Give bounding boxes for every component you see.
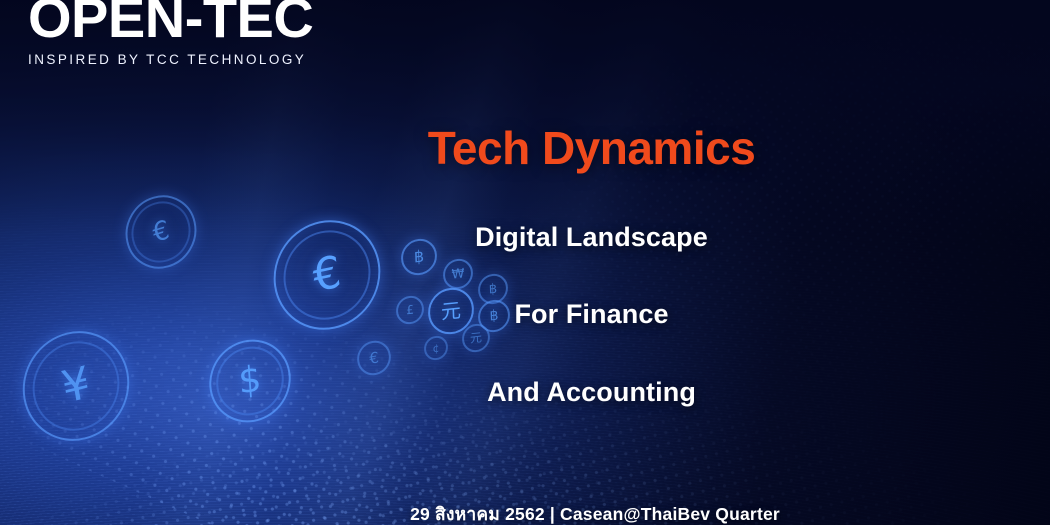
opentec-logo: OPEN-TEC INSPIRED BY TCC TECHNOLOGY (28, 0, 313, 67)
logo-wordmark: OPEN-TEC (28, 0, 313, 46)
coin-currency-glyph: $ (237, 361, 262, 400)
coin-currency-glyph: ฿ (489, 282, 498, 296)
coin-currency-glyph: 元 (470, 331, 482, 344)
logo-tagline: INSPIRED BY TCC TECHNOLOGY (28, 52, 313, 67)
coin-currency-glyph: £ (406, 304, 414, 317)
coin-currency-glyph: ¢ (432, 342, 439, 354)
coin-currency-glyph: € (310, 250, 344, 299)
coin-currency-glyph: ฿ (489, 309, 498, 324)
coin-currency-glyph: 元 (441, 300, 462, 322)
coin-currency-glyph: € (369, 350, 380, 367)
coin-currency-glyph: ₩ (451, 267, 464, 281)
coin-currency-glyph: ฿ (414, 248, 425, 265)
presentation-slide: €€¥$€฿₩฿£元฿元¢ OPEN-TEC INSPIRED BY TCC T… (0, 0, 1050, 525)
